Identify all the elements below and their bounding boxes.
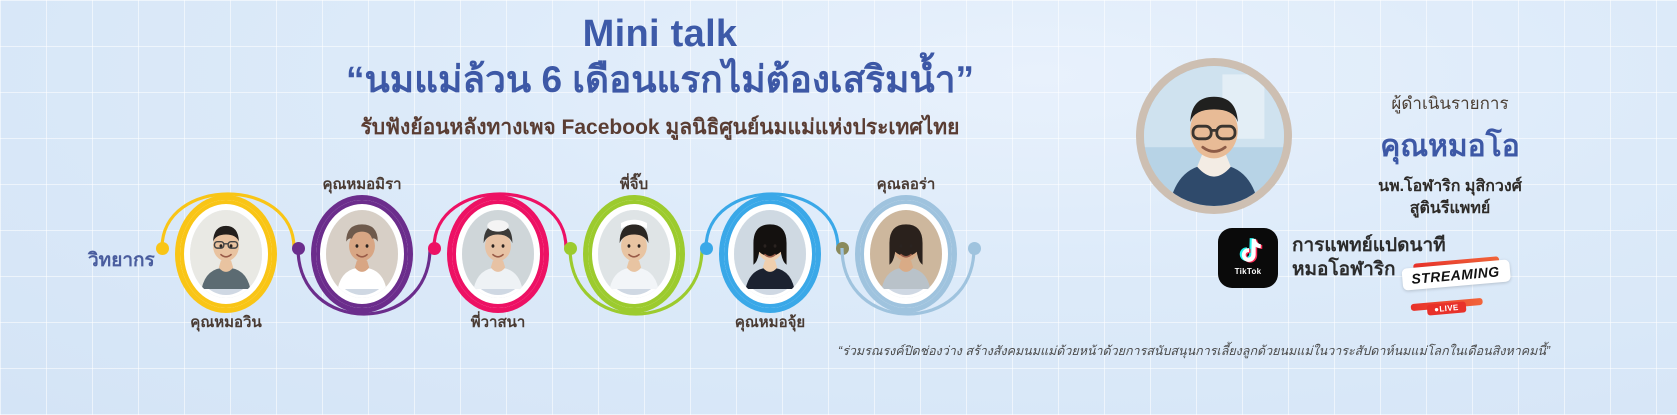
speaker-2[interactable]: คุณหมอมิรา <box>316 200 408 308</box>
headline-block: Mini talk “นมแม่ล้วน 6 เดือนแรกไม่ต้องเส… <box>245 14 1075 141</box>
speaker-3[interactable]: พี่วาสนา <box>452 200 544 308</box>
speaker-name: คุณหมอมิรา <box>322 172 401 196</box>
tiktok-caption-line-1: การแพทย์แปดนาที <box>1292 234 1446 258</box>
speaker-4[interactable]: พี่จิ๊บ <box>588 200 680 308</box>
tiktok-icon[interactable]: TikTok <box>1218 228 1278 288</box>
tiktok-note-glyph <box>1233 236 1263 266</box>
speaker-portrait <box>462 210 534 298</box>
speaker-face-illustration <box>870 210 942 289</box>
speaker-1[interactable]: คุณหมอวิน <box>180 200 272 308</box>
connector-dot-6 <box>836 242 849 255</box>
connector-dot-3 <box>428 242 441 255</box>
headline-subtitle: รับฟังย้อนหลังทางเพจ Facebook มูลนิธิศูน… <box>245 115 1075 140</box>
speaker-portrait <box>190 210 262 298</box>
moderator-avatar <box>1136 58 1292 214</box>
moderator-role: ผู้ดำเนินรายการ <box>1300 90 1600 117</box>
speaker-name: พี่จิ๊บ <box>620 172 648 196</box>
speaker-name: คุณลอร่า <box>877 172 936 196</box>
connector-dot-2 <box>292 242 305 255</box>
speaker-face-illustration <box>598 210 670 289</box>
connector-dot-end <box>968 242 981 255</box>
speaker-name: คุณหมอวิน <box>190 310 261 334</box>
speaker-name: คุณหมอจุ้ย <box>735 310 805 334</box>
moderator-specialty: สูตินรีแพทย์ <box>1300 198 1600 220</box>
streaming-badge: STREAMING ●LIVE <box>1401 259 1512 308</box>
speaker-name: พี่วาสนา <box>471 310 526 334</box>
speaker-face-illustration <box>462 210 534 289</box>
speaker-portrait <box>734 210 806 298</box>
moderator-nickname: คุณหมอโอ <box>1300 123 1600 170</box>
live-badge: ●LIVE <box>1427 301 1466 315</box>
speaker-6[interactable]: คุณลอร่า <box>860 200 952 308</box>
promo-banner: Mini talk “นมแม่ล้วน 6 เดือนแรกไม่ต้องเส… <box>0 0 1677 415</box>
tiktok-wordmark: TikTok <box>1235 267 1262 276</box>
moderator-info: ผู้ดำเนินรายการ คุณหมอโอ นพ.โอฬาริก มุสิ… <box>1300 90 1600 219</box>
connector-dot-4 <box>564 242 577 255</box>
speaker-portrait <box>598 210 670 298</box>
connector-dot-5 <box>700 242 713 255</box>
headline-quote: “นมแม่ล้วน 6 เดือนแรกไม่ต้องเสริมน้ำ” <box>245 58 1075 102</box>
speaker-face-illustration <box>734 210 806 289</box>
speaker-ring <box>316 200 408 308</box>
speaker-face-illustration <box>190 210 262 289</box>
moderator-photo-inner <box>1144 66 1284 206</box>
footer-note: “ร่วมรณรงค์ปิดช่องว่าง สร้างสังคมนมแม่ด้… <box>838 341 1658 361</box>
speaker-5[interactable]: คุณหมอจุ้ย <box>724 200 816 308</box>
speaker-face-illustration <box>326 210 398 289</box>
speaker-portrait <box>326 210 398 298</box>
page-title: Mini talk <box>245 14 1075 56</box>
moderator-fullname: นพ.โอฬาริก มุสิกวงศ์ <box>1300 176 1600 198</box>
speakers-row: คุณหมอวิน คุณหมอมิรา พี่วาสนา <box>180 186 1010 336</box>
speakers-section-label: วิทยากร <box>88 245 155 275</box>
speaker-ring <box>724 200 816 308</box>
connector-dot-1 <box>156 242 169 255</box>
speaker-ring <box>860 200 952 308</box>
speaker-portrait <box>870 210 942 298</box>
speaker-ring <box>452 200 544 308</box>
speaker-ring <box>180 200 272 308</box>
moderator-face-illustration <box>1144 66 1284 206</box>
speaker-ring <box>588 200 680 308</box>
